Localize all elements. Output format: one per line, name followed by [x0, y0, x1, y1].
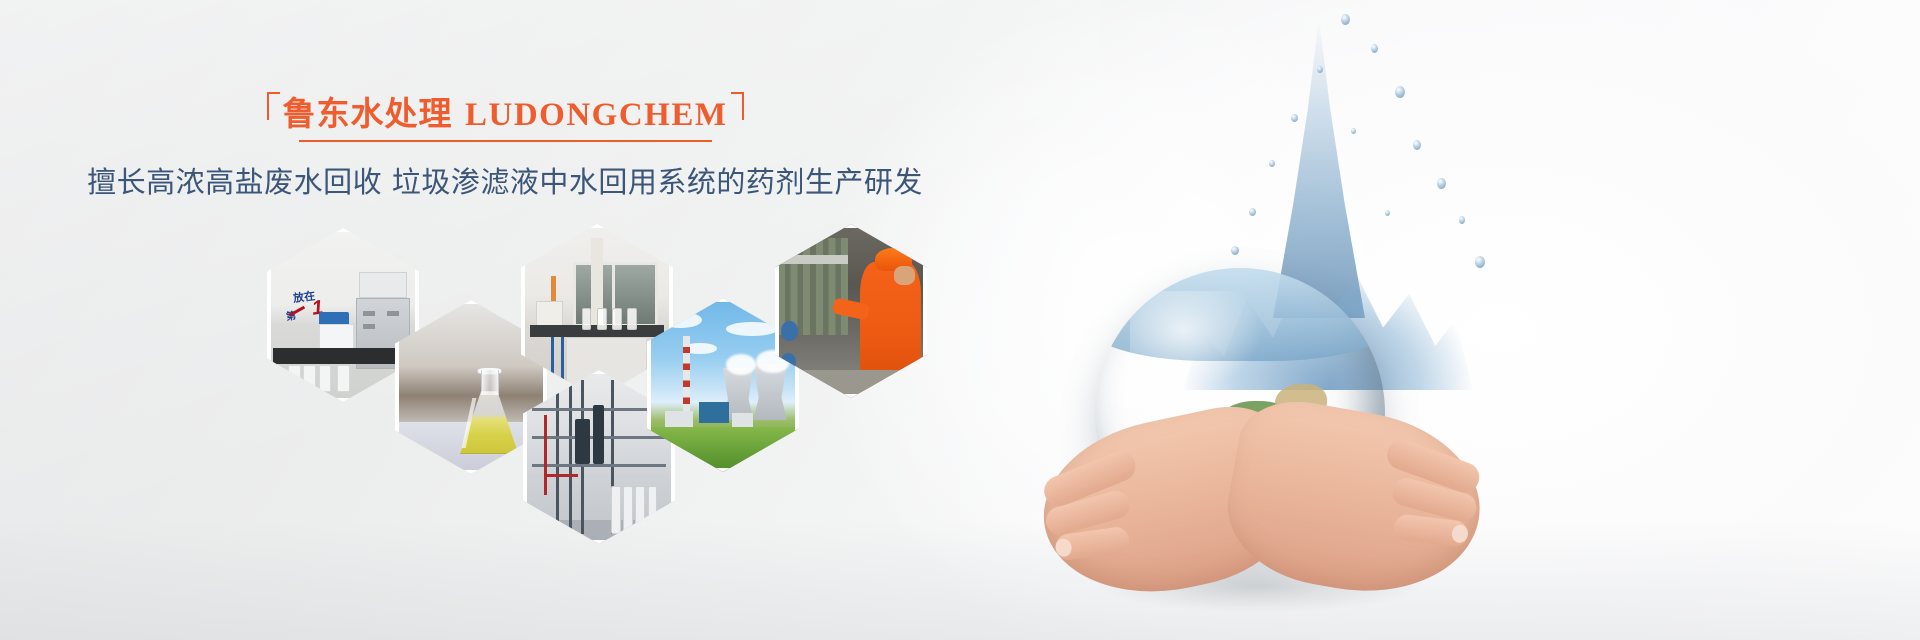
membrane-vessel	[635, 486, 645, 533]
plant-floor	[523, 520, 675, 544]
lab-bench	[273, 348, 413, 364]
banner-text-block: 鲁东水处理 LUDONGCHEM 擅长高浓高盐废水回收 垃圾渗滤液中水回用系统的…	[0, 90, 1010, 201]
red-pipe	[544, 474, 577, 477]
worker-face	[894, 266, 915, 285]
lab-jug	[303, 365, 316, 391]
membrane-vessel	[623, 486, 633, 533]
hero-banner: 鲁东水处理 LUDONGCHEM 擅长高浓高盐废水回收 垃圾渗滤液中水回用系统的…	[0, 0, 1920, 640]
red-pipe	[544, 415, 547, 495]
overhead-pipes	[778, 255, 848, 264]
glassware	[627, 308, 637, 331]
plant-building	[665, 411, 692, 427]
plant-building	[732, 413, 753, 427]
lab-white-equipment	[319, 324, 354, 350]
conical-flask	[459, 370, 520, 454]
membrane-vessel	[611, 486, 621, 533]
brand-title-cn: 鲁东水处理	[283, 94, 453, 133]
plant-building	[699, 402, 729, 423]
glassware	[612, 308, 622, 331]
pipe-manifold	[593, 405, 604, 464]
title-row: 鲁东水处理 LUDONGCHEM	[0, 90, 1010, 142]
page-title: 鲁东水处理 LUDONGCHEM	[283, 94, 728, 135]
bench-leg	[551, 337, 554, 398]
lab-jug	[337, 365, 350, 391]
brand-title-en: LUDONGCHEM	[465, 97, 728, 133]
lab-jug	[319, 365, 332, 391]
pipe-manifold	[575, 419, 590, 464]
title-underline	[299, 140, 712, 142]
bracket-right-icon	[731, 92, 744, 120]
bracket-left-icon	[267, 92, 280, 120]
banner-subtitle: 擅长高浓高盐废水回收 垃圾渗滤液中水回用系统的药剂生产研发	[0, 159, 1010, 201]
lab-shelf	[359, 272, 407, 298]
hexagon-photo-cluster: 放在 第 1	[235, 222, 955, 512]
bench-leg	[561, 337, 564, 398]
globe-highlight	[1130, 291, 1263, 390]
valve-wheel	[781, 321, 798, 340]
title-wrap: 鲁东水处理 LUDONGCHEM	[267, 90, 744, 142]
chimney-stack	[683, 336, 689, 413]
flask-neck	[481, 370, 499, 395]
background-floor-shadow	[0, 520, 1920, 640]
water-globe-artwork	[1035, 0, 1595, 640]
lab-jug	[288, 365, 301, 391]
glassware	[597, 308, 607, 331]
glassware	[582, 308, 592, 331]
membrane-vessel	[648, 486, 658, 533]
